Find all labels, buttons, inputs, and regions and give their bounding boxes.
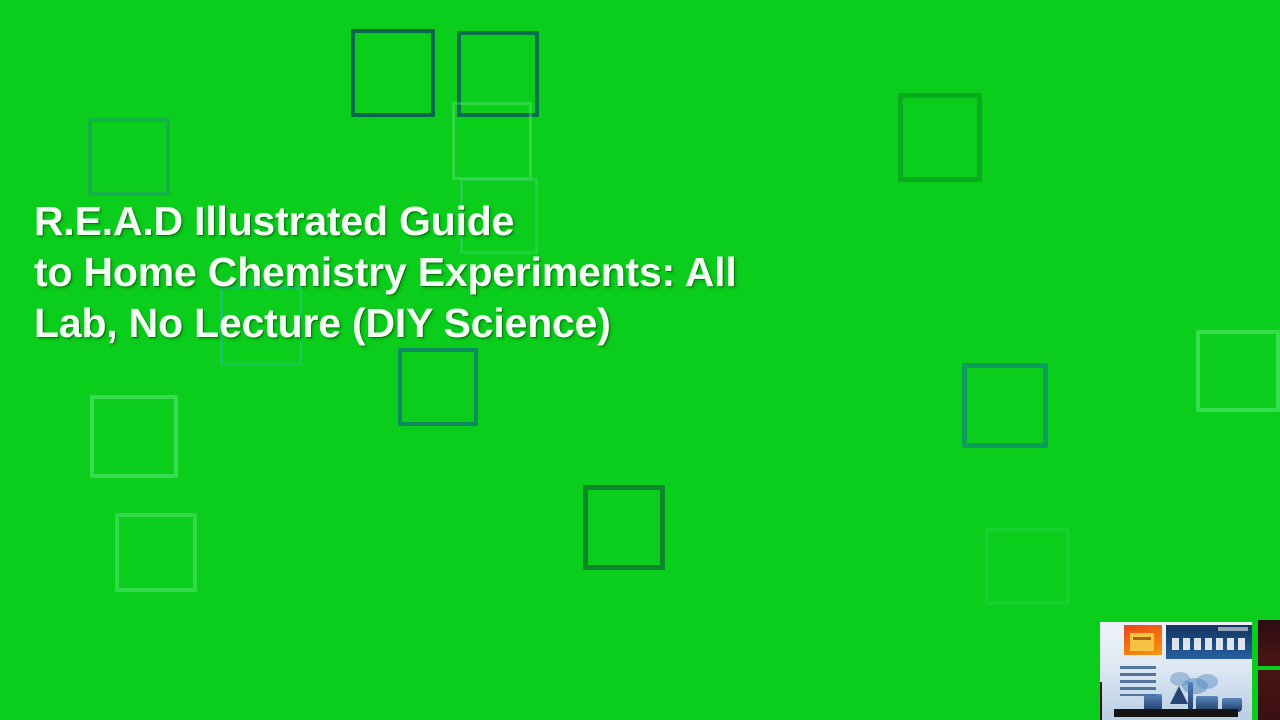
cover-author-band [1114,709,1238,717]
title-line-3: Lab, No Lecture (DIY Science) [34,298,934,349]
cover-left-edge [1100,682,1102,720]
video-thumbnail-slide: R.E.A.D Illustrated Guide to Home Chemis… [0,0,1280,720]
title-line-1: R.E.A.D Illustrated Guide [34,196,934,247]
cover-banner-title-text [1172,638,1248,650]
cover-side-text-lines [1120,666,1156,696]
cover-smoke-puff-3 [1196,674,1218,689]
publisher-logo-bar [1133,637,1151,640]
publisher-logo-icon [1124,625,1162,655]
spine-gap [1258,666,1280,670]
cover-test-tube-icon [1188,682,1193,710]
square-right-edge [1196,330,1280,412]
adjacent-book-spine [1258,620,1280,720]
cover-title-banner [1166,625,1252,659]
square-right-top [898,93,982,182]
square-center-teal [398,348,478,426]
cover-banner-subtext [1218,627,1248,631]
page-title: R.E.A.D Illustrated Guide to Home Chemis… [34,196,934,349]
square-right-bottom [985,528,1070,605]
square-right-mid [962,363,1048,448]
square-left-mid [90,395,178,478]
square-left-bottom [115,513,197,592]
square-top-mid-a [351,29,435,117]
square-top-mid-faint [452,102,532,180]
book-cover-card [1100,622,1252,720]
book-cover-thumbnail[interactable] [1100,620,1280,720]
square-top-left [88,118,170,196]
square-bottom-center [583,485,665,570]
publisher-logo-inner [1130,633,1154,651]
title-line-2: to Home Chemistry Experiments: All [34,247,934,298]
cover-flask-icon [1170,686,1188,704]
